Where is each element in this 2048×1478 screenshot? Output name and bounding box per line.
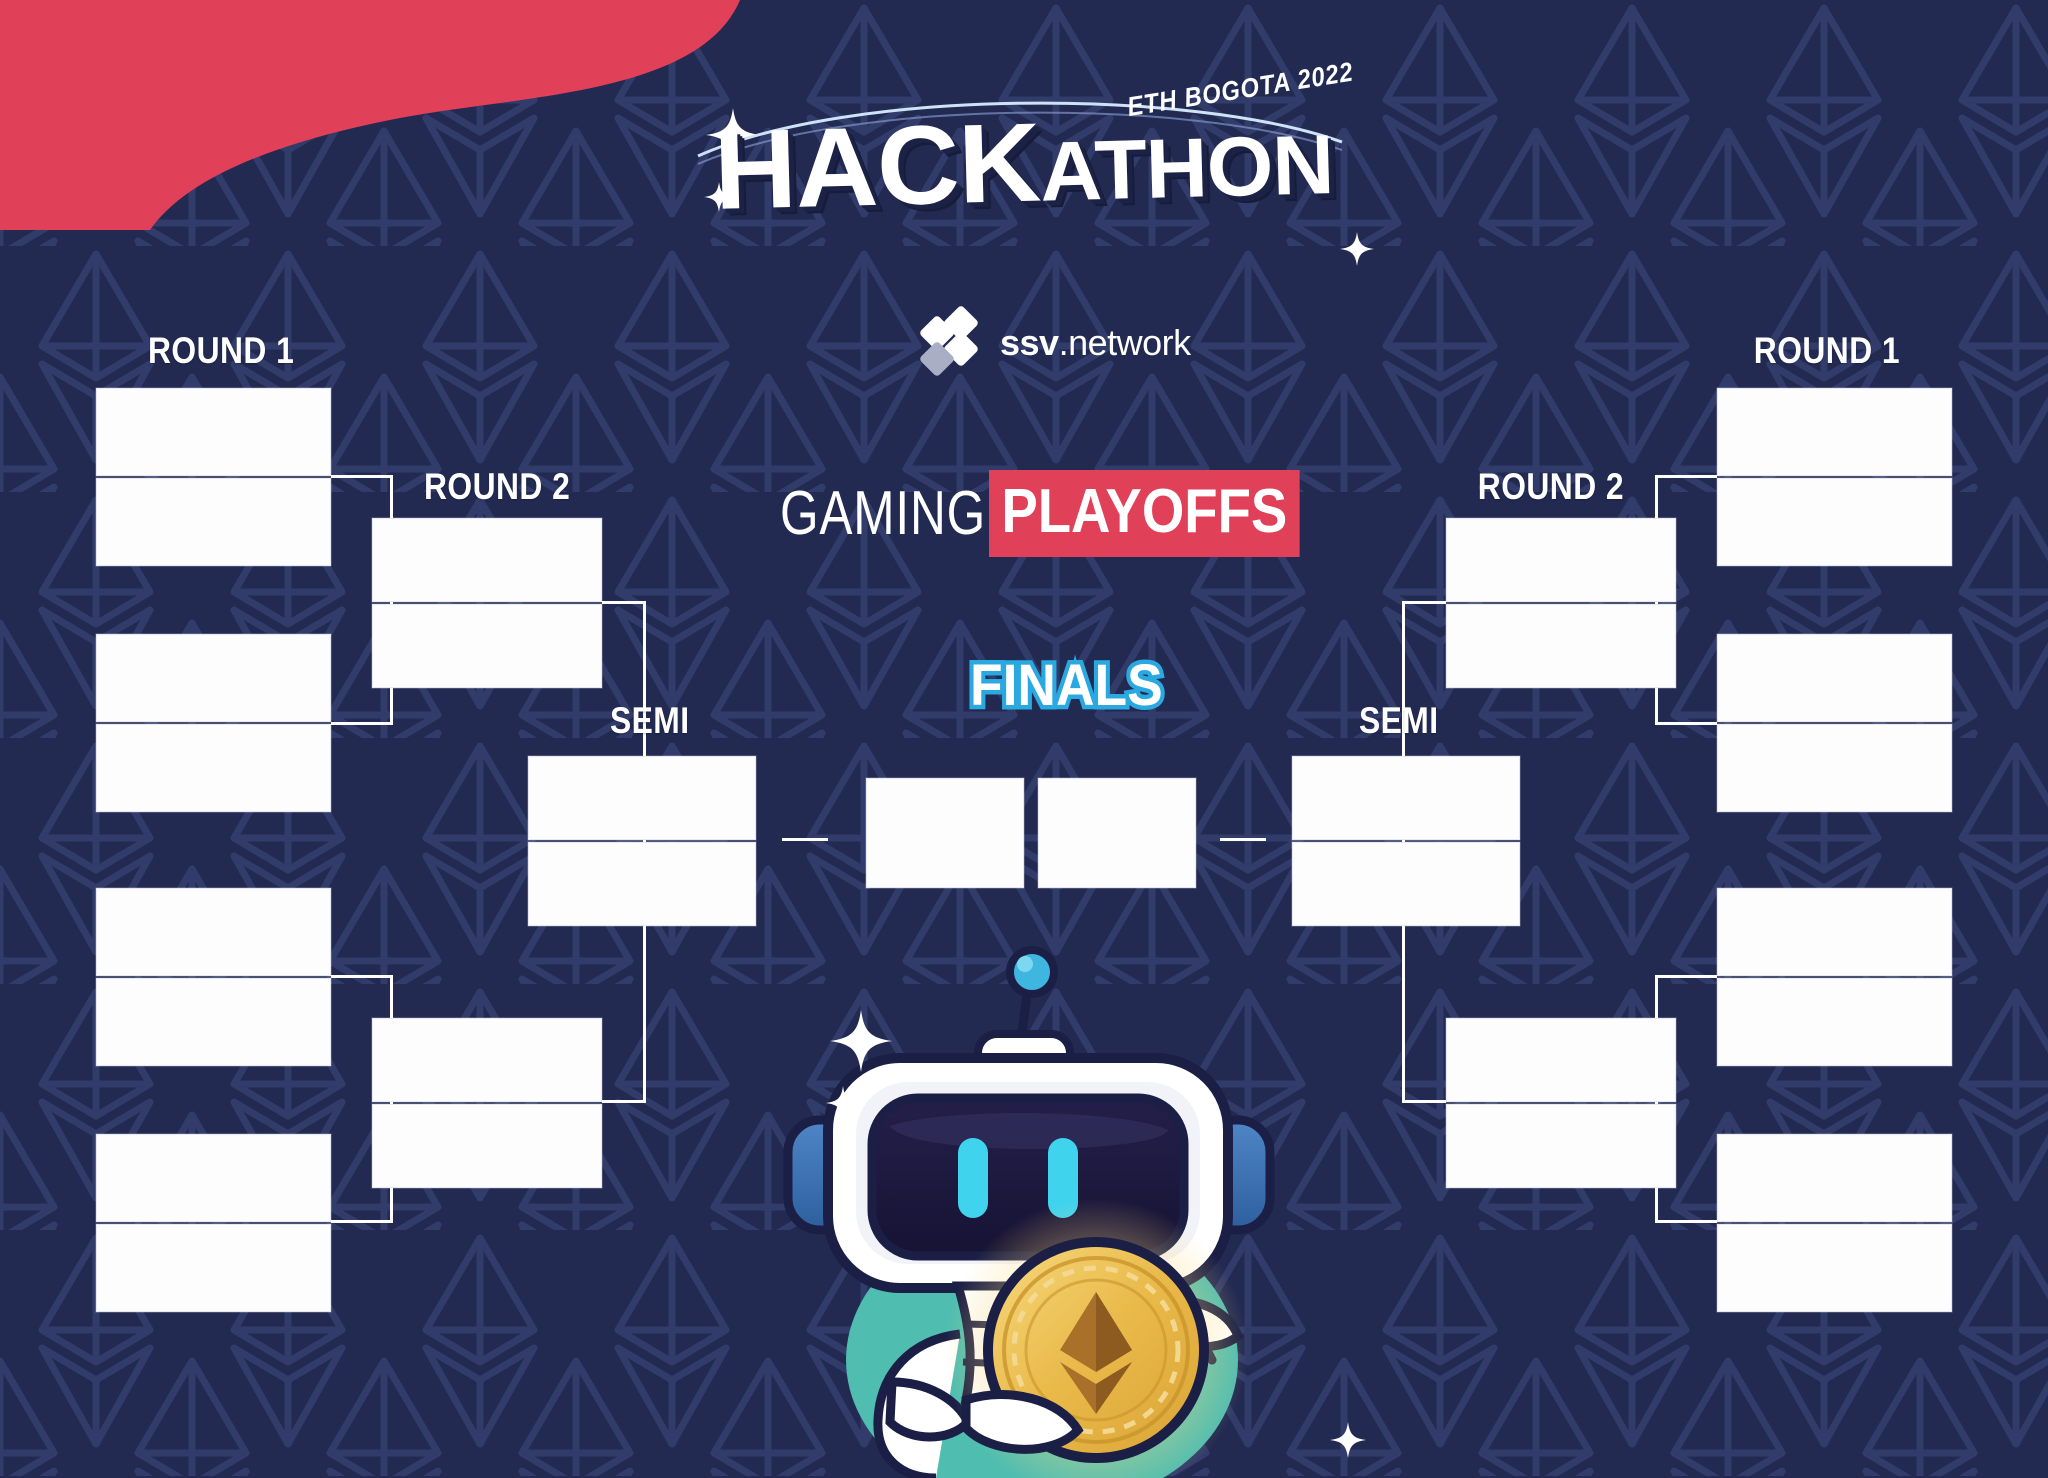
right-conn-r1-p4 (1655, 1220, 1717, 1223)
ssv-wordmark: ssv.network (1000, 322, 1191, 364)
left-r1-slot-8[interactable] (96, 1224, 331, 1312)
left-conn-r1-p4 (331, 1220, 393, 1223)
left-conn-r1-p2 (331, 722, 393, 725)
right-conn-r1-p2 (1655, 722, 1717, 725)
left-r2-slot-1[interactable] (372, 518, 602, 602)
right-r2-slot-3[interactable] (1446, 1018, 1676, 1102)
red-corner-swoosh (0, 0, 760, 230)
sparkle-icon (830, 1010, 892, 1072)
right-r1-slot-6[interactable] (1717, 978, 1952, 1066)
right-conn-r2-bot (1402, 1100, 1446, 1103)
sparkle-icon (1330, 1422, 1366, 1458)
left-r1-slot-1[interactable] (96, 388, 331, 476)
right-r1-slot-2[interactable] (1717, 478, 1952, 566)
left-semi-label: SEMI (610, 700, 690, 742)
playoffs-badge: PLAYOFFS (989, 470, 1300, 557)
left-semi-slot-2[interactable] (528, 842, 756, 926)
left-conn-r2-bot (602, 1100, 646, 1103)
robot-eye-left (958, 1138, 988, 1218)
right-conn-r2-top (1402, 601, 1446, 604)
sparkle-icon (826, 1086, 860, 1120)
right-r1-slot-8[interactable] (1717, 1224, 1952, 1312)
finals-label: FINALS (970, 652, 1163, 719)
right-r2-slot-4[interactable] (1446, 1104, 1676, 1188)
left-conn-r1-p1 (331, 475, 393, 478)
left-conn-semi-finals (782, 838, 828, 841)
right-semi-slot-2[interactable] (1292, 842, 1520, 926)
left-r1-slot-6[interactable] (96, 978, 331, 1066)
left-conn-r2-top (602, 601, 646, 604)
gaming-label: GAMING (780, 478, 986, 549)
right-r2-slot-2[interactable] (1446, 604, 1676, 688)
right-conn-semi-finals (1220, 838, 1266, 841)
left-r1-slot-2[interactable] (96, 478, 331, 566)
right-conn-r1-p3 (1655, 975, 1717, 978)
title-block: HACKATHON ETH BOGOTA 2022 (660, 70, 1390, 270)
right-round2-label: ROUND 2 (1478, 466, 1624, 508)
right-r1-slot-1[interactable] (1717, 388, 1952, 476)
left-r2-slot-3[interactable] (372, 1018, 602, 1102)
right-r1-slot-4[interactable] (1717, 724, 1952, 812)
finals-slot-2[interactable] (1038, 778, 1196, 888)
right-r1-slot-5[interactable] (1717, 888, 1952, 976)
right-r2-slot-1[interactable] (1446, 518, 1676, 602)
left-r1-slot-5[interactable] (96, 888, 331, 976)
right-r1-slot-3[interactable] (1717, 634, 1952, 722)
antenna-bulb (1010, 950, 1054, 994)
poster-canvas: HACKATHON ETH BOGOTA 2022 ssv.network GA… (0, 0, 2048, 1478)
ssv-diamond-mark (920, 312, 984, 374)
left-r1-slot-4[interactable] (96, 724, 331, 812)
right-semi-label: SEMI (1358, 700, 1438, 742)
right-r1-slot-7[interactable] (1717, 1134, 1952, 1222)
left-r1-slot-3[interactable] (96, 634, 331, 722)
left-semi-slot-1[interactable] (528, 756, 756, 840)
ssv-network-logo: ssv.network (920, 312, 1191, 374)
gaming-playoffs-heading: GAMING PLAYOFFS (780, 470, 1342, 557)
finals-slot-1[interactable] (866, 778, 1024, 888)
left-round1-label: ROUND 1 (148, 330, 294, 372)
left-r2-slot-2[interactable] (372, 604, 602, 688)
left-r2-slot-4[interactable] (372, 1104, 602, 1188)
right-round1-label: ROUND 1 (1754, 330, 1900, 372)
left-r1-slot-7[interactable] (96, 1134, 331, 1222)
right-semi-slot-1[interactable] (1292, 756, 1520, 840)
left-round2-label: ROUND 2 (424, 466, 570, 508)
left-conn-r1-p3 (331, 975, 393, 978)
right-conn-r1-p1 (1655, 475, 1717, 478)
page-title: HACKATHON (712, 90, 1334, 235)
